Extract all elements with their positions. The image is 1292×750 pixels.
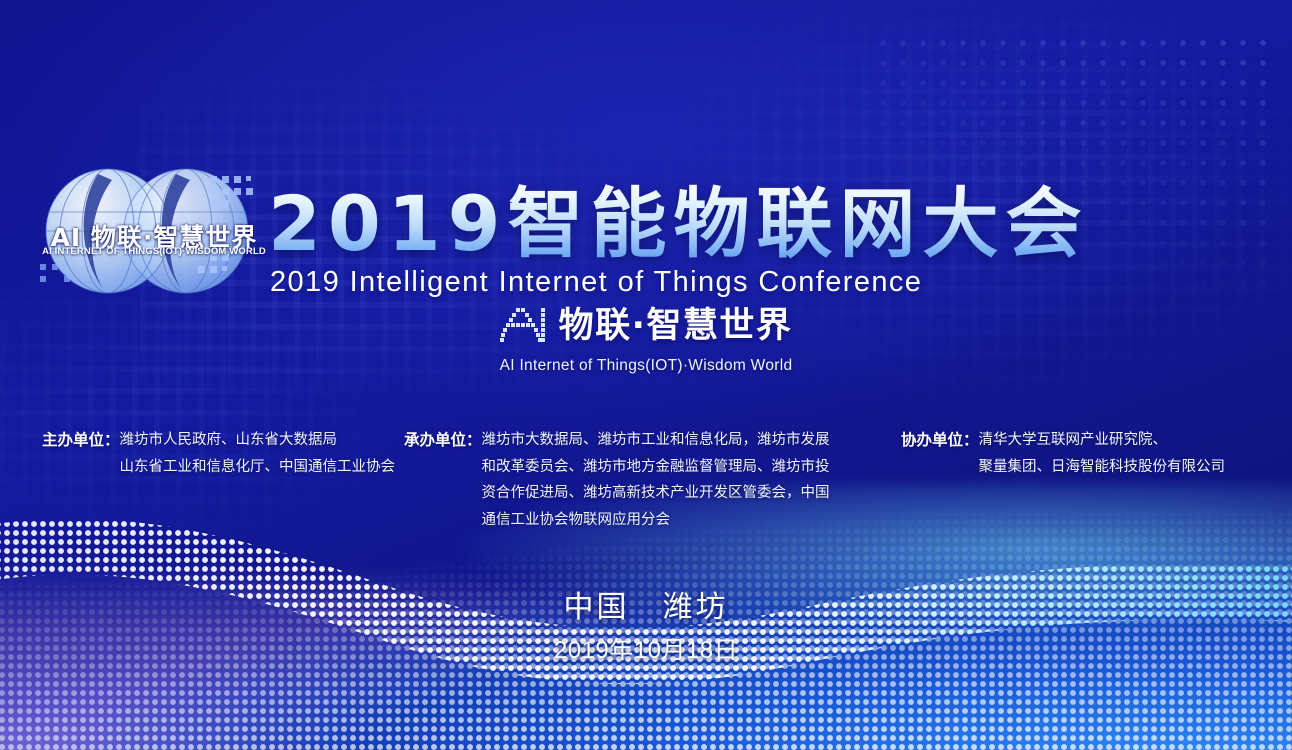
organizer-label-coorganizer: 协办单位： (901, 427, 979, 454)
conference-banner: AI 物联·智慧世界 AI INTERNET OF THINGS(IOT)·WI… (0, 0, 1292, 750)
logo-english-text: AI INTERNET OF THINGS(IOT)·WISDOM WORLD (40, 246, 268, 257)
organizer-line: 潍坊市人民政府、山东省大数据局 (120, 427, 396, 454)
brand-lockup-english: AI Internet of Things(IOT)·Wisdom World (0, 357, 1292, 375)
organizer-line: 山东省工业和信息化厅、中国通信工业协会 (120, 454, 396, 481)
organizer-body-coorganizer: 清华大学互联网产业研究院、 聚量集团、日海智能科技股份有限公司 (979, 427, 1226, 480)
organizer-body-undertaker: 潍坊市大数据局、潍坊市工业和信息化局，潍坊市发展和改革委员会、潍坊市地方金融监督… (482, 427, 842, 533)
event-date: 2019年10月18日 (0, 630, 1292, 665)
conference-logo: AI 物联·智慧世界 AI INTERNET OF THINGS(IOT)·WI… (34, 160, 269, 302)
brand-lockup-row: 物联·智慧世界 (500, 306, 793, 346)
organizer-label-undertaker: 承办单位： (404, 427, 482, 454)
main-title-english: 2019 Intelligent Internet of Things Conf… (270, 266, 1260, 299)
organizer-label-host: 主办单位： (42, 427, 120, 454)
organizer-line: 清华大学互联网产业研究院、 (979, 427, 1226, 454)
brand-lockup-chinese: 物联·智慧世界 (559, 306, 793, 346)
event-footer: 中国 潍坊 2019年10月18日 (0, 588, 1292, 665)
organizer-block-host: 主办单位： 潍坊市人民政府、山东省大数据局 山东省工业和信息化厅、中国通信工业协… (42, 427, 395, 480)
organizer-body-host: 潍坊市人民政府、山东省大数据局 山东省工业和信息化厅、中国通信工业协会 (120, 427, 396, 480)
organizer-block-coorganizer: 协办单位： 清华大学互联网产业研究院、 聚量集团、日海智能科技股份有限公司 (901, 427, 1225, 480)
brand-lockup: 物联·智慧世界 AI Internet of Things(IOT)·Wisdo… (0, 306, 1292, 375)
ai-dotted-letters-icon (500, 306, 546, 346)
organizer-line: 聚量集团、日海智能科技股份有限公司 (979, 454, 1226, 481)
event-location: 中国 潍坊 (0, 588, 1292, 628)
organizer-line: 潍坊市大数据局、潍坊市工业和信息化局，潍坊市发展和改革委员会、潍坊市地方金融监督… (482, 427, 842, 533)
organizer-block-undertaker: 承办单位： 潍坊市大数据局、潍坊市工业和信息化局，潍坊市发展和改革委员会、潍坊市… (404, 427, 842, 533)
main-title-chinese: 2019智能物联网大会 (268, 178, 1258, 270)
